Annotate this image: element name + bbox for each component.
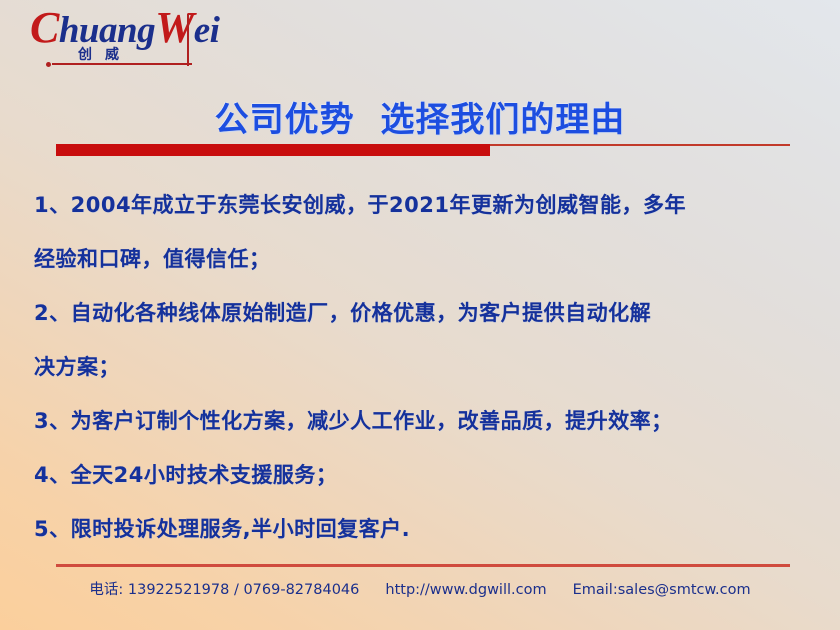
footer-email[interactable]: Email:sales@smtcw.com	[573, 582, 751, 598]
footer-contact-bar: 电话: 13922521978 / 0769-82784046http://ww…	[0, 578, 840, 599]
footer-website[interactable]: http://www.dgwill.com	[385, 582, 546, 598]
footer-divider	[56, 564, 790, 567]
list-item: 经验和口碑，值得信任；	[34, 232, 824, 286]
advantages-list: 1、2004年成立于东莞长安创威，于2021年更新为创威智能，多年 经验和口碑，…	[34, 178, 824, 556]
title-divider-thick	[56, 144, 490, 156]
list-item: 2、自动化各种线体原始制造厂，价格优惠，为客户提供自动化解	[34, 286, 824, 340]
company-logo: ChuangWei 创威	[26, 8, 192, 70]
list-item: 1、2004年成立于东莞长安创威，于2021年更新为创威智能，多年	[34, 178, 824, 232]
list-item: 4、全天24小时技术支援服务；	[34, 448, 824, 502]
logo-bracket-bottom-icon	[52, 63, 192, 65]
logo-bracket-right-icon	[187, 14, 189, 66]
list-item: 3、为客户订制个性化方案，减少人工作业，改善品质，提升效率；	[34, 394, 824, 448]
footer-phone: 电话: 13922521978 / 0769-82784046	[89, 582, 359, 598]
logo-dot-icon	[46, 62, 51, 67]
list-item: 5、限时投诉处理服务,半小时回复客户.	[34, 502, 824, 556]
page-title: 公司优势 选择我们的理由	[0, 92, 840, 141]
list-item: 决方案；	[34, 340, 824, 394]
logo-chinese-name: 创威	[78, 44, 132, 64]
logo-text-ei: ei	[194, 10, 220, 51]
logo-letter-c: C	[30, 3, 59, 52]
slide-canvas: ChuangWei 创威 公司优势 选择我们的理由 1、2004年成立于东莞长安…	[0, 0, 840, 630]
